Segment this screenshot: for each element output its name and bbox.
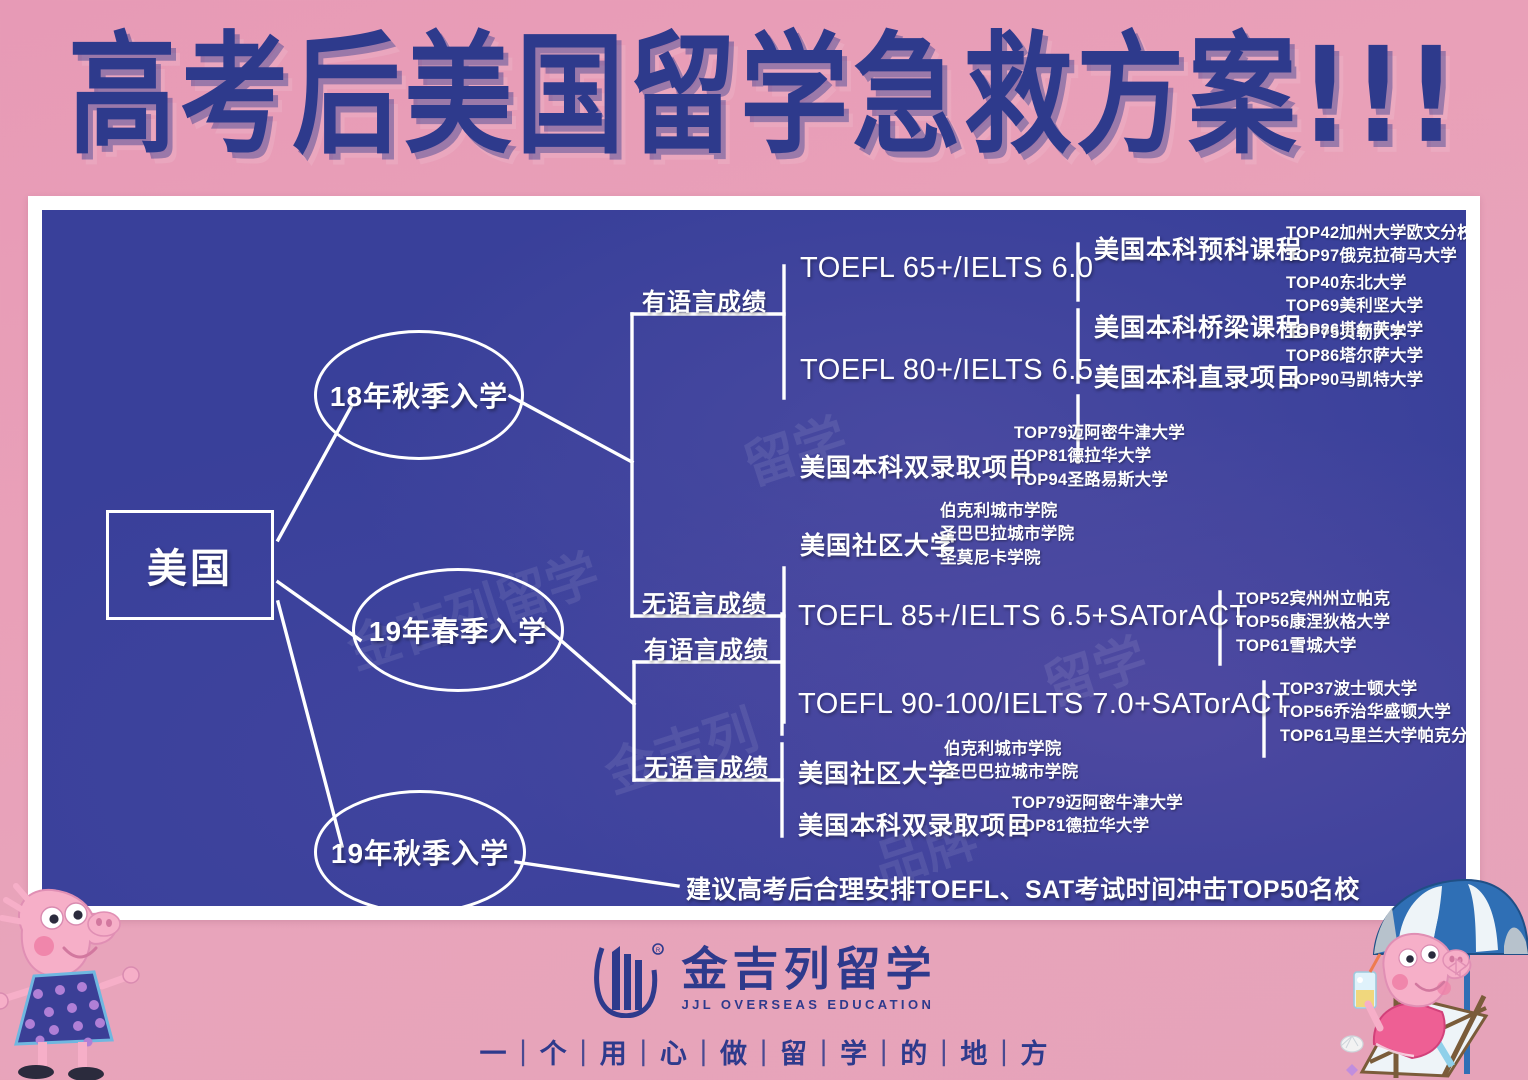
school-item: TOP81德拉华大学 [1012, 815, 1183, 838]
school-item: TOP79迈阿密牛津大学 [1012, 792, 1183, 815]
brand-name-en: JJL OVERSEAS EDUCATION [682, 997, 935, 1012]
jjl-logo-icon: R [592, 940, 666, 1018]
root-node-usa[interactable]: 美国 [106, 510, 274, 620]
program-foundation: 美国本科预科课程 [1094, 230, 1302, 266]
program-community-college-f18: 美国社区大学 [800, 526, 956, 562]
school-item: TOP81德拉华大学 [1014, 445, 1185, 468]
school-item: TOP42加州大学欧文分校 [1286, 222, 1466, 245]
school-list-direct-admission: TOP75贝勒大学 TOP86塔尔萨大学 TOP90马凯特大学 [1286, 322, 1423, 392]
requirement-toefl-65: TOEFL 65+/IELTS 6.0 [800, 252, 1093, 285]
school-item: TOP40东北大学 [1286, 272, 1423, 295]
school-item: 伯克利城市学院 [944, 738, 1078, 761]
tagline-char: 个 [540, 1032, 568, 1071]
intake-label: 19年秋季入学 [331, 832, 509, 872]
school-item: 圣莫尼卡学院 [940, 547, 1074, 570]
school-list-spring-toefl90: TOP37波士顿大学 TOP56乔治华盛顿大学 TOP61马里兰大学帕克分校 [1280, 678, 1466, 748]
tagline-char: 做 [720, 1032, 748, 1071]
tagline-char: 用 [600, 1032, 628, 1071]
tagline-separator: | [879, 1036, 889, 1067]
school-list-community-f18: 伯克利城市学院 圣巴巴拉城市学院 圣莫尼卡学院 [940, 500, 1074, 570]
school-list-foundation: TOP42加州大学欧文分校 TOP97俄克拉荷马大学 [1286, 222, 1466, 269]
school-item: TOP52宾州州立帕克 [1236, 588, 1390, 611]
school-item: 圣巴巴拉城市学院 [940, 523, 1074, 546]
intake-label: 18年秋季入学 [330, 375, 508, 415]
school-list-spring-toefl85: TOP52宾州州立帕克 TOP56康涅狄格大学 TOP61雪城大学 [1236, 588, 1390, 658]
tagline-char: 学 [840, 1032, 868, 1071]
tagline-separator: | [639, 1036, 649, 1067]
branch-label-with-score-fall2018: 有语言成绩 [642, 282, 767, 317]
branch-label-without-score-spring2019: 无语言成绩 [644, 748, 769, 783]
tagline-char: 地 [960, 1032, 988, 1071]
brand-tagline: 一| 个| 用| 心| 做| 留| 学| 的| 地| 方 [480, 1032, 1049, 1071]
root-node-label: 美国 [147, 536, 233, 594]
school-item: TOP75贝勒大学 [1286, 322, 1423, 345]
tagline-char: 留 [780, 1032, 808, 1071]
branch-label-without-score-fall2018: 无语言成绩 [642, 584, 767, 619]
peppa-pig-standing-illustration [0, 872, 164, 1080]
tagline-char: 一 [480, 1032, 508, 1071]
tagline-separator: | [579, 1036, 589, 1067]
school-item: TOP56乔治华盛顿大学 [1280, 701, 1466, 724]
tagline-separator: | [519, 1036, 529, 1067]
diagram-frame: 金吉列留学 留学 金吉列 留学 品牌 [28, 196, 1480, 920]
school-item: TOP61马里兰大学帕克分校 [1280, 725, 1466, 748]
brand-logo-row[interactable]: R 金吉列留学 JJL OVERSEAS EDUCATION [592, 940, 937, 1018]
school-item: TOP86塔尔萨大学 [1286, 345, 1423, 368]
branch-label-with-score-spring2019: 有语言成绩 [644, 630, 769, 665]
school-item: TOP56康涅狄格大学 [1236, 611, 1390, 634]
requirement-toefl-90-sat: TOEFL 90-100/IELTS 7.0+SATorACT [798, 688, 1290, 721]
tagline-char: 心 [660, 1032, 688, 1071]
school-item: TOP97俄克拉荷马大学 [1286, 245, 1466, 268]
tagline-separator: | [699, 1036, 709, 1067]
tagline-separator: | [759, 1036, 769, 1067]
requirement-toefl-85-sat: TOEFL 85+/IELTS 6.5+SATorACT [798, 600, 1248, 633]
tagline-separator: | [939, 1036, 949, 1067]
program-community-college-s19: 美国社区大学 [798, 754, 954, 790]
tagline-separator: | [999, 1036, 1009, 1067]
school-item: TOP94圣路易斯大学 [1014, 469, 1185, 492]
school-list-conditional-s19: TOP79迈阿密牛津大学 TOP81德拉华大学 [1012, 792, 1183, 839]
tagline-char: 的 [900, 1032, 928, 1071]
school-item: TOP79迈阿密牛津大学 [1014, 422, 1185, 445]
school-list-community-s19: 伯克利城市学院 圣巴巴拉城市学院 [944, 738, 1078, 785]
intake-label: 19年春季入学 [369, 610, 547, 650]
tagline-separator: | [819, 1036, 829, 1067]
school-list-conditional-f18: TOP79迈阿密牛津大学 TOP81德拉华大学 TOP94圣路易斯大学 [1014, 422, 1185, 492]
tagline-char: 方 [1020, 1032, 1048, 1071]
school-item: TOP37波士顿大学 [1280, 678, 1466, 701]
program-bridge: 美国本科桥梁课程 [1094, 308, 1302, 344]
school-item: TOP90马凯特大学 [1286, 369, 1423, 392]
advice-text-fall2019: 建议高考后合理安排TOEFL、SAT考试时间冲击TOP50名校 [686, 870, 1360, 906]
program-conditional-admission-s19: 美国本科双录取项目 [798, 806, 1032, 842]
svg-text:R: R [655, 948, 660, 954]
intake-node-fall-2019[interactable]: 19年秋季入学 [314, 790, 526, 906]
brand-wordmark: 金吉列留学 JJL OVERSEAS EDUCATION [682, 945, 937, 1012]
page-title: 高考后美国留学急救方案!!! [68, 31, 1460, 163]
peppa-pig-beach-illustration [1336, 876, 1528, 1080]
program-conditional-admission-f18: 美国本科双录取项目 [800, 448, 1034, 484]
footer-logo-area: R 金吉列留学 JJL OVERSEAS EDUCATION 一| 个| 用| … [0, 930, 1528, 1080]
school-item: 圣巴巴拉城市学院 [944, 761, 1078, 784]
program-direct-admission: 美国本科直录项目 [1094, 358, 1302, 394]
school-item: TOP69美利坚大学 [1286, 295, 1423, 318]
school-item: TOP61雪城大学 [1236, 635, 1390, 658]
requirement-toefl-80: TOEFL 80+/IELTS 6.5 [800, 354, 1093, 387]
poster-title-bar: 高考后美国留学急救方案!!! [0, 14, 1528, 179]
intake-node-spring-2019[interactable]: 19年春季入学 [352, 568, 564, 692]
intake-node-fall-2018[interactable]: 18年秋季入学 [314, 330, 524, 460]
brand-name-cn: 金吉列留学 [682, 945, 937, 993]
diagram-panel: 金吉列留学 留学 金吉列 留学 品牌 [42, 210, 1466, 906]
school-item: 伯克利城市学院 [940, 500, 1074, 523]
